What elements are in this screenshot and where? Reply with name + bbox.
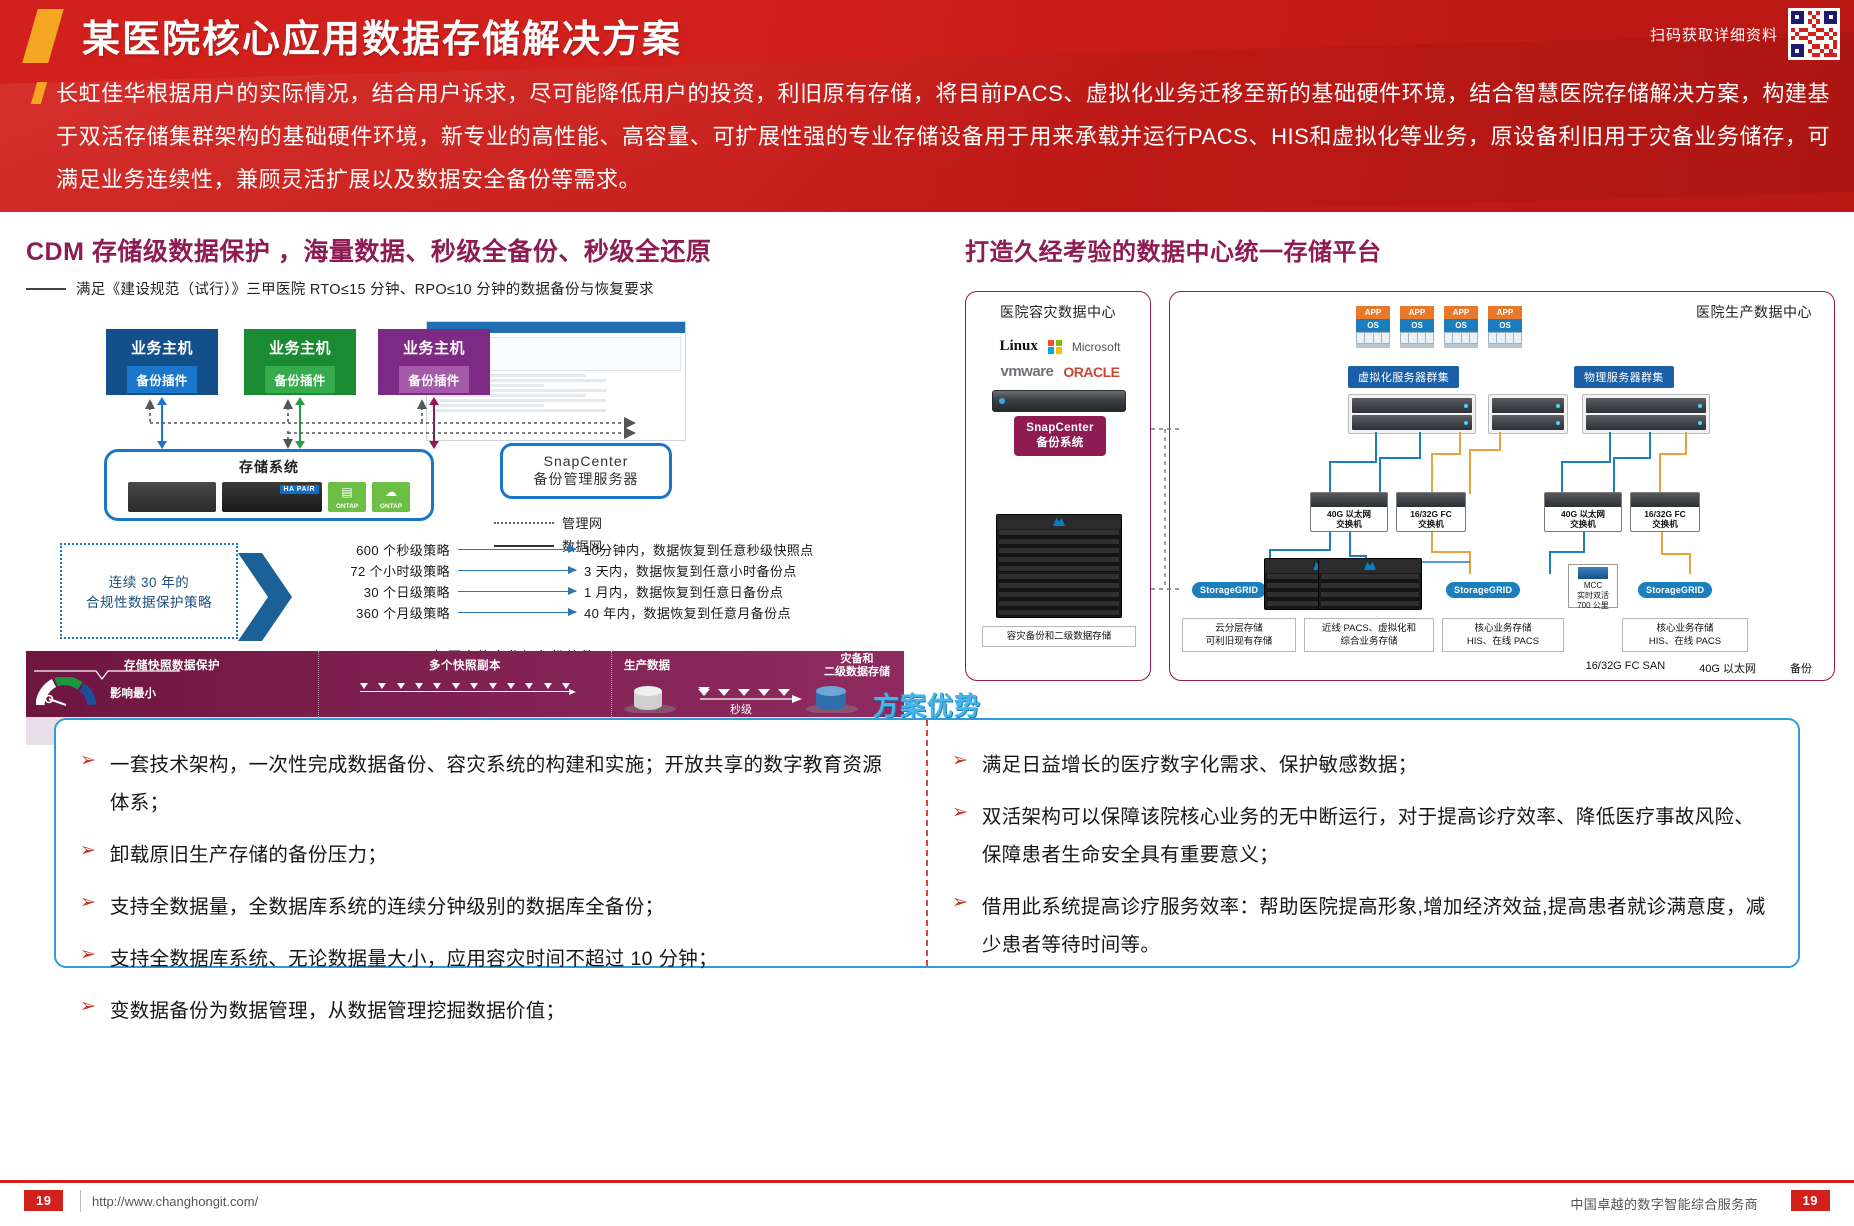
dr-secondary-storage-label: 灾备和 二级数据存储 [824,653,890,679]
left-section-subtitle: 满足《建设规范（试行）》三甲医院 RTO≤15 分钟、RPO≤10 分钟的数据备… [76,278,654,299]
disk-bay-icon [1488,332,1522,344]
nearline-pacs-caption: 近线 PACS、虚拟化和 综合业务存储 [1304,618,1434,652]
advantage-item: ➢ 一套技术架构，一次性完成数据备份、容灾系统的构建和实施；开放共享的数字教育资… [80,746,896,822]
policy-row: 360 个月级策略 40 年内，数据恢复到任意月备份点 [302,602,814,623]
os-row-1: Linux Microsoft [980,338,1140,355]
dr-datacenter-label: 医院容灾数据中心 [966,302,1150,322]
inter-datacenter-link [1145,409,1185,609]
header-title-row: 某医院核心应用数据存储解决方案 [30,8,682,63]
policy-arrow-icon [458,612,576,613]
caption-line1: 核心业务存储 [1656,623,1713,634]
dr-storage-caption: 容灾备份和二级数据存储 [982,626,1136,647]
storage-system-label: 存储系统 [107,457,431,477]
snapcenter-subtitle: 备份管理服务器 [534,469,639,489]
advantage-item: ➢ 变数据备份为数据管理，从数据管理挖掘数据价值； [80,992,896,1030]
array-disk-shelf-icon [999,530,1119,572]
advantage-text: 双活架构可以保障该院核心业务的无中断运行，对于提高诊疗效率、降低医疗事故风险、保… [982,798,1768,874]
caption-line2: HIS、在线 PACS [1467,636,1539,647]
cdm-architecture-diagram: 业务主机 备份插件 业务主机 备份插件 业务主机 备份插件 [26,321,926,641]
rack-unit [1492,415,1564,430]
footer-url[interactable]: http://www.changhongit.com/ [92,1194,258,1209]
rack-unit [1492,398,1564,413]
left-section-title: CDM 存储级数据保护 ，海量数据、秒级全备份、秒级全还原 [26,232,926,268]
advantage-text: 支持全数据库系统、无论数据量大小，应用容灾时间不超过 10 分钟； [110,940,718,978]
policy-flex-row: 连续 30 年的 合规性数据保护策略 600 个秒级策略 10分钟内，数据恢复到… [34,539,914,639]
page-title: 某医院核心应用数据存储解决方案 [82,8,682,63]
advantage-item: ➢ 双活架构可以保障该院核心业务的无中断运行，对于提高诊疗效率、降低医疗事故风险… [952,798,1768,874]
policy-row: 30 个日级策略 1 月内，数据恢复到任意日备份点 [302,581,814,602]
right-section-title: 打造久经考验的数据中心统一存储平台 [965,232,1835,267]
host-plugin-badge: 备份插件 [399,366,468,393]
right-section: 打造久经考验的数据中心统一存储平台 医院容灾数据中心 Linux Microso… [965,232,1835,681]
switch-40g-eth-1: 40G 以太网 交换机 [1310,492,1388,532]
policy-arrow-icon [458,570,576,571]
core-business-caption-1: 核心业务存储 HIS、在线 PACS [1442,618,1564,652]
cloud-tier-caption: 云分层存储 可利旧现有存储 [1182,618,1296,652]
switch-device-icon [1397,493,1465,507]
app-stack-3: APP OS [1444,306,1478,348]
policy-rows: 600 个秒级策略 10分钟内，数据恢复到任意秒级快照点 72 个小时级策略 3… [302,539,814,623]
dr-storage-array-icon [996,514,1122,618]
policy-arrow-icon [458,591,576,592]
legend-40g-eth: 40G 以太网 [1699,660,1756,676]
app-label: APP [1444,306,1478,319]
caption-line1: 核心业务存储 [1474,623,1531,634]
rack-unit [1352,415,1472,430]
ontap-label: ONTAP [336,503,358,510]
advantage-item: ➢ 满足日益增长的医疗数字化需求、保护敏感数据； [952,746,1768,784]
stack-base [1400,344,1434,348]
legend-row-management: 管理网 [494,513,603,532]
app-stack-2: APP OS [1400,306,1434,348]
policy-right-label: 3 天内，数据恢复到任意小时备份点 [584,561,797,580]
page-number-right: 19 [1791,1190,1830,1211]
caption-line1: 近线 PACS、虚拟化和 [1322,623,1416,634]
storagegrid-pill-1: StorageGRID [1192,582,1266,598]
os-label: OS [1356,319,1390,332]
policy-callout-box: 连续 30 年的 合规性数据保护策略 [60,543,238,639]
virtual-server-rack-icon [1348,394,1476,434]
os-label: OS [1488,319,1522,332]
host-card-2: 业务主机 备份插件 [244,329,356,395]
switch-40g-eth-2: 40G 以太网 交换机 [1544,492,1622,532]
caption-line2: HIS、在线 PACS [1649,636,1721,647]
server-glyph-icon: ▤ [341,486,352,498]
switch-label: 16/32G FC 交换机 [1409,507,1453,531]
switch-device-icon [1631,493,1699,507]
switch-label: 16/32G FC 交换机 [1643,507,1687,531]
rack-unit [1586,398,1706,413]
production-data-label: 生产数据 [624,657,670,673]
linux-logo-icon: Linux [999,338,1037,355]
switch-label-line2: 交换机 [1336,519,1362,529]
dotted-line-icon [494,522,554,524]
switch-fc-2: 16/32G FC 交换机 [1630,492,1700,532]
switch-label: 40G 以太网 交换机 [1326,507,1372,531]
ha-pair-array-icon: HA PAIR [222,482,322,512]
advantage-text: 卸载原旧生产存储的备份压力； [110,836,387,874]
snapcenter-badge-line2: 备份系统 [1036,436,1083,451]
legend-backup: 备份 [1790,660,1812,676]
accent-slash-icon [22,9,63,63]
host-name: 业务主机 [403,337,465,358]
dr-datacenter-box: 医院容灾数据中心 Linux Microsoft vmware ORACLE S… [965,291,1151,681]
switch-fc-1: 16/32G FC 交换机 [1396,492,1466,532]
switch-label-line2: 交换机 [1418,519,1444,529]
subtitle-dash-icon [26,288,66,290]
advantage-item: ➢ 借用此系统提高诊疗服务效率：帮助医院提高形象,增加经济效益,提高患者就诊满意… [952,888,1768,964]
bullet-arrow-icon: ➢ [80,940,96,970]
mcc-replication-box: MCC 实时双活 700 公里 [1568,564,1618,608]
array-controller-icon [1319,559,1421,573]
virtual-server-rack-icon-2 [1488,394,1568,434]
dr-snapcenter-server-icon [992,390,1126,412]
microsoft-logo-icon [1048,340,1062,354]
virtual-server-cluster-label: 虚拟化服务器群集 [1348,366,1459,388]
page-header: 某医院核心应用数据存储解决方案 扫码获取详细资料 长虹佳华根据用户的实际情况，结… [0,0,1854,212]
mcc-device-icon [1578,567,1608,579]
bullet-arrow-icon: ➢ [952,746,968,776]
storage-array-icon [128,482,216,512]
advantage-text: 满足日益增长的医疗数字化需求、保护敏感数据； [982,746,1418,784]
connector-lines [106,397,666,449]
mcc-line3: 700 公里 [1569,601,1617,611]
advantages-left-column: ➢ 一套技术架构，一次性完成数据备份、容灾系统的构建和实施；开放共享的数字教育资… [56,720,928,966]
qr-label: 扫码获取详细资料 [1650,24,1778,45]
host-name: 业务主机 [131,337,193,358]
disk-bay-icon [1356,332,1390,344]
disk-bay-icon [1400,332,1434,344]
stack-base [1356,344,1390,348]
app-label: APP [1488,306,1522,319]
bullet-arrow-icon: ➢ [952,798,968,828]
advantage-text: 一套技术架构，一次性完成数据备份、容灾系统的构建和实施；开放共享的数字教育资源体… [110,746,896,822]
stack-base [1444,344,1478,348]
os-label: OS [1400,319,1434,332]
advantage-text: 变数据备份为数据管理，从数据管理挖掘数据价值； [110,992,565,1030]
policy-right-label: 40 年内，数据恢复到任意月备份点 [584,603,791,622]
advantages-box: ➢ 一套技术架构，一次性完成数据备份、容灾系统的构建和实施；开放共享的数字教育资… [54,718,1800,968]
switch-device-icon [1545,493,1621,507]
os-row-2: vmware ORACLE [980,363,1140,380]
snapcenter-badge-line1: SnapCenter [1026,421,1094,436]
legend-label: 管理网 [562,513,603,532]
snapcenter-server-box: SnapCenter 备份管理服务器 [500,443,672,499]
stack-base [1488,344,1522,348]
bullet-arrow-icon: ➢ [80,746,96,776]
footer-separator [80,1190,81,1212]
cloud-glyph-icon: ☁ [385,486,397,498]
host-plugin-badge: 备份插件 [265,366,334,393]
switch-label-line1: 40G 以太网 [1327,509,1371,519]
header-lead-paragraph: 长虹佳华根据用户的实际情况，结合用户诉求，尽可能降低用户的投资，利旧原有存储，将… [34,72,1830,201]
legend-fc-san: 16/32G FC SAN [1586,660,1665,676]
caption-line1: 云分层存储 [1215,623,1263,634]
bullet-arrow-icon: ➢ [80,992,96,1022]
microsoft-label: Microsoft [1072,340,1121,354]
ha-pair-label: HA PAIR [280,485,320,494]
left-section-subtitle-row: 满足《建设规范（试行）》三甲医院 RTO≤15 分钟、RPO≤10 分钟的数据备… [26,278,926,299]
rack-unit [1352,398,1472,413]
bullet-arrow-icon: ➢ [80,888,96,918]
left-section: CDM 存储级数据保护 ，海量数据、秒级全备份、秒级全还原 满足《建设规范（试行… [26,232,926,641]
network-cabling [1170,432,1836,502]
switch-label: 40G 以太网 交换机 [1560,507,1606,531]
policy-left-label: 600 个秒级策略 [302,540,450,559]
host-plugin-badge: 备份插件 [127,366,196,393]
production-datacenter-box: 医院生产数据中心 APP OS APP OS APP OS APP [1169,291,1835,681]
network-type-legend: 16/32G FC SAN 40G 以太网 备份 [1170,660,1836,676]
bullet-arrow-icon: ➢ [80,836,96,866]
app-label: APP [1400,306,1434,319]
array-disk-shelf-icon [1321,574,1419,608]
os-label: OS [1444,319,1478,332]
switch-label-line1: 40G 以太网 [1561,509,1605,519]
array-controller-icon [997,515,1121,529]
policy-left-label: 360 个月级策略 [302,603,450,622]
policy-left-label: 30 个日级策略 [302,582,450,601]
page-footer: 19 http://www.changhongit.com/ 中国卓越的数字智能… [0,1180,1854,1226]
advantage-text: 支持全数据量，全数据库系统的连续分钟级别的数据库全备份； [110,888,664,926]
nearline-pacs-array-icon [1318,558,1422,610]
core-business-caption-2: 核心业务存储 HIS、在线 PACS [1622,618,1748,652]
advantage-item: ➢ 支持全数据库系统、无论数据量大小，应用容灾时间不超过 10 分钟； [80,940,896,978]
host-card-3: 业务主机 备份插件 [378,329,490,395]
qr-area[interactable]: 扫码获取详细资料 [1650,8,1840,60]
host-name: 业务主机 [269,337,331,358]
policy-right-label: 10分钟内，数据恢复到任意秒级快照点 [584,540,814,559]
physical-server-rack-icon [1582,394,1710,434]
production-datacenter-label: 医院生产数据中心 [1696,302,1812,322]
oracle-logo-icon: ORACLE [1063,364,1119,380]
advantages-right-column: ➢ 满足日益增长的医疗数字化需求、保护敏感数据； ➢ 双活架构可以保障该院核心业… [928,720,1798,966]
app-stack-1: APP OS [1356,306,1390,348]
switch-label-line2: 交换机 [1652,519,1678,529]
rack-unit [1586,415,1706,430]
bullet-arrow-icon: ➢ [952,888,968,918]
array-disk-shelf-icon [999,574,1119,616]
band-cell-title: 多个快照副本 [319,651,611,673]
ontap-server-icon: ▤ ONTAP [328,482,366,512]
footer-slogan: 中国卓越的数字智能综合服务商 [1570,1194,1758,1213]
footer-rule [0,1180,1854,1183]
policy-right-label: 1 月内，数据恢复到任意日备份点 [584,582,783,601]
bracket-icon [32,669,182,681]
qr-code-pattern [1791,11,1837,57]
retention-policy-block: 连续 30 年的 合规性数据保护策略 600 个秒级策略 10分钟内，数据恢复到… [34,539,914,667]
switch-label-line1: 16/32G FC [1410,509,1452,519]
policy-callout-line1: 连续 30 年的 [109,571,190,591]
switch-device-icon [1311,493,1387,507]
caption-line2: 可利旧现有存储 [1206,636,1273,647]
mcc-line1: MCC [1569,581,1617,591]
storage-device-row: HA PAIR ▤ ONTAP ☁ ONTAP [107,482,431,512]
app-label: APP [1356,306,1390,319]
lead-text: 长虹佳华根据用户的实际情况，结合用户诉求，尽可能降低用户的投资，利旧原有存储，将… [56,72,1830,201]
lead-accent-slash-icon [31,82,47,104]
switch-label-line1: 16/32G FC [1644,509,1686,519]
policy-callout-line2: 合规性数据保护策略 [86,591,212,611]
mcc-line2: 实时双活 [1569,591,1617,601]
host-card-1: 业务主机 备份插件 [106,329,218,395]
disk-bay-icon [1444,332,1478,344]
policy-arrow-icon [458,549,576,550]
ontap-cloud-icon: ☁ ONTAP [372,482,410,512]
app-stack-4: APP OS [1488,306,1522,348]
advantage-item: ➢ 支持全数据量，全数据库系统的连续分钟级别的数据库全备份； [80,888,896,926]
policy-row: 72 个小时级策略 3 天内，数据恢复到任意小时备份点 [302,560,814,581]
qr-code-icon[interactable] [1788,8,1840,60]
caption-line2: 综合业务存储 [1340,636,1397,647]
page-number-left: 19 [24,1190,63,1211]
policy-left-label: 72 个小时级策略 [302,561,450,580]
ontap-label: ONTAP [380,503,402,510]
dr-snapcenter-badge: SnapCenter 备份系统 [1014,416,1106,456]
advantage-text: 借用此系统提高诊疗服务效率：帮助医院提高形象,增加经济效益,提高患者就诊满意度，… [982,888,1768,964]
policy-row: 600 个秒级策略 10分钟内，数据恢复到任意秒级快照点 [302,539,814,560]
switch-label-line2: 交换机 [1570,519,1596,529]
os-logo-group: Linux Microsoft vmware ORACLE [980,338,1140,388]
physical-server-cluster-label: 物理服务器群集 [1574,366,1674,388]
storage-system-box: 存储系统 HA PAIR ▤ ONTAP ☁ ONTAP [104,449,434,521]
datacenter-topology-diagram: 医院容灾数据中心 Linux Microsoft vmware ORACLE S… [965,291,1835,681]
chevron-arrow-icon [238,549,294,645]
advantage-item: ➢ 卸载原旧生产存储的备份压力； [80,836,896,874]
vmware-logo-icon: vmware [1001,363,1054,380]
snapcenter-title: SnapCenter [544,453,629,469]
